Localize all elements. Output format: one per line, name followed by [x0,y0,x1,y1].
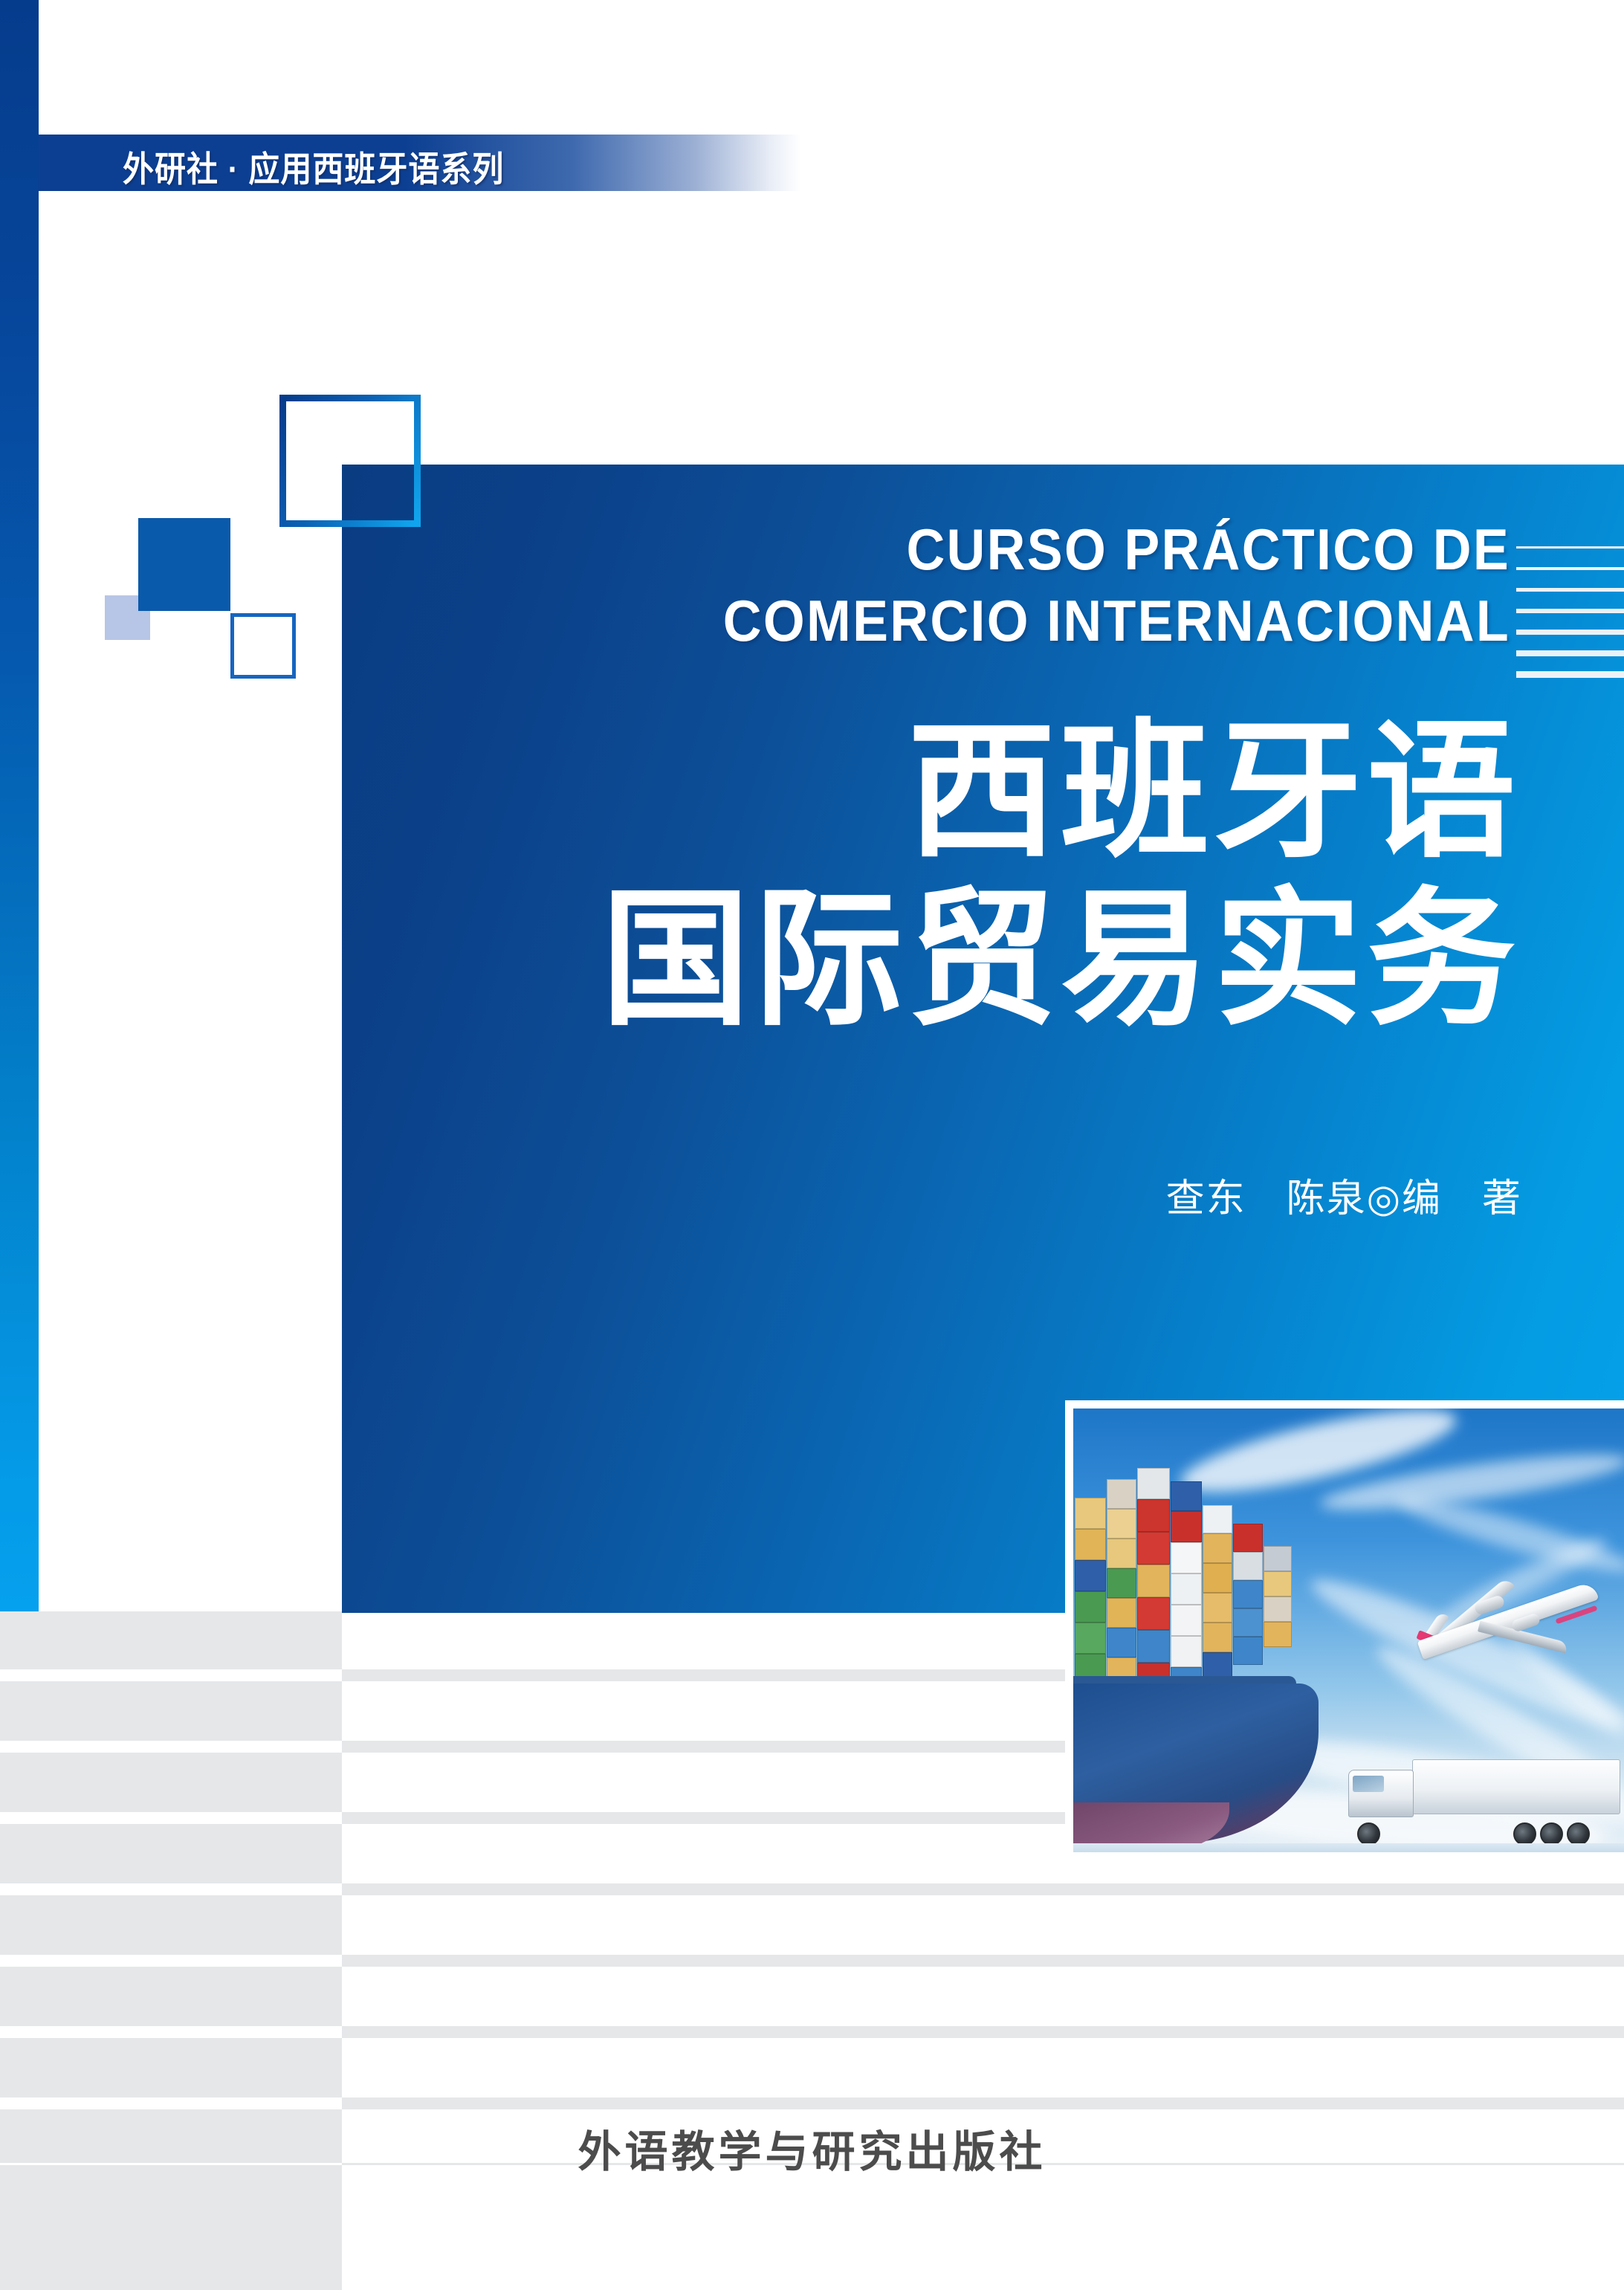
chinese-title-line-1: 西班牙语 [372,714,1520,871]
stripe-band [0,2038,1624,2097]
author-byline: 查东 陈泉◎编 著 [743,1167,1522,1223]
container-box [1137,1597,1170,1630]
delivery-truck [1341,1758,1620,1847]
stripe-gap [0,2097,1624,2109]
stripe-left-segment [0,1824,342,1883]
container-box [1107,1509,1136,1539]
stripe-left-segment [0,1741,342,1753]
container-box [1107,1479,1136,1509]
truck-wheel [1540,1822,1563,1846]
stripe-left-segment [0,1681,342,1741]
stripe-left-segment [0,1895,342,1955]
container-box [1137,1532,1170,1565]
stripe-band [0,1967,1624,2026]
container-box [1171,1511,1202,1542]
white-footer-block [342,2165,1624,2290]
container-box [1171,1481,1202,1511]
container-box [1233,1580,1263,1608]
container-box [1233,1552,1263,1580]
stripe-left-segment [0,1753,342,1812]
book-cover: 外研社 · 应用西班牙语系列 CURSO PRÁCTICO DE COMERCI… [0,0,1624,2290]
container-box [1233,1524,1263,1552]
container-box [1107,1568,1136,1598]
chinese-title-line-2: 国际贸易实务 [372,882,1520,1039]
container-box [1171,1573,1202,1605]
water-surface [1073,1843,1624,1852]
left-gradient-spine [0,0,39,1611]
container-box [1107,1628,1136,1657]
spanish-title-line-1: CURSO PRÁCTICO DE [545,520,1510,580]
stripe-right-segment [342,2038,1624,2097]
container-box [1264,1546,1292,1571]
container-box [1137,1499,1170,1532]
stripe-gap [0,2026,1624,2038]
stripe-right-segment [342,1967,1624,2026]
cover-photo-frame [1065,1400,1624,1852]
truck-trailer [1412,1759,1620,1814]
container-box [1203,1623,1232,1652]
stripe-right-segment [342,1883,1624,1895]
container-box [1137,1468,1170,1499]
stripe-left-segment [0,1883,342,1895]
container-stack [1137,1468,1170,1695]
container-box [1137,1630,1170,1663]
container-box [1264,1597,1292,1622]
rule-line [1516,650,1624,656]
rule-line [1516,588,1624,592]
gray-footer-block [0,2165,342,2290]
container-stack [1075,1498,1106,1685]
container-stack [1107,1479,1136,1687]
stripe-gap [0,1883,1624,1895]
small-outlined-square-decoration [230,613,296,679]
series-banner-label: 外研社 · 应用西班牙语系列 [123,141,504,192]
container-box [1075,1560,1106,1591]
stripe-left-segment [0,2038,342,2097]
container-box [1264,1571,1292,1597]
stripe-left-segment [0,1812,342,1824]
container-box [1171,1605,1202,1636]
stripe-right-segment [342,2026,1624,2038]
container-box [1203,1533,1232,1563]
rule-line [1516,609,1624,613]
stripe-left-segment [0,1955,342,1967]
stripe-left-segment [0,2097,342,2109]
logistics-photo [1073,1408,1624,1852]
truck-wheel [1513,1822,1536,1846]
rule-line [1516,671,1624,678]
solid-blue-square-decoration [138,518,230,611]
large-outlined-square-decoration [279,395,421,527]
container-stack [1264,1546,1292,1647]
container-box [1075,1591,1106,1623]
container-stack [1233,1524,1263,1665]
stripe-left-segment [0,1669,342,1681]
container-box [1233,1608,1263,1637]
cargo-airplane [1409,1554,1610,1666]
publisher-name: 外语教学与研究出版社 [0,2117,1624,2179]
container-box [1264,1622,1292,1647]
container-box [1203,1593,1232,1623]
container-box [1075,1623,1106,1654]
stripe-right-segment [342,1955,1624,1967]
container-stack [1203,1505,1232,1682]
container-box [1075,1529,1106,1560]
container-box [1203,1563,1232,1593]
chinese-title: 西班牙语 国际贸易实务 [372,714,1520,1039]
container-box [1233,1637,1263,1665]
truck-wheel [1357,1822,1380,1846]
rule-line [1516,567,1624,570]
stripe-gap [0,1955,1624,1967]
container-box [1203,1505,1232,1533]
stripe-left-segment [0,2026,342,2038]
container-box [1171,1542,1202,1573]
rule-line [1516,630,1624,635]
spanish-title: CURSO PRÁCTICO DE COMERCIO INTERNACIONAL [461,520,1510,650]
stripe-right-segment [342,2097,1624,2109]
stripe-left-segment [0,1611,342,1669]
stripe-right-segment [342,1895,1624,1955]
container-box [1075,1498,1106,1529]
container-box [1137,1565,1170,1597]
container-box [1171,1636,1202,1667]
stripe-band [0,1895,1624,1955]
truck-wheel [1567,1822,1590,1846]
container-box [1107,1598,1136,1628]
truck-windshield [1353,1776,1384,1792]
rule-line [1516,546,1624,549]
spanish-title-line-2: COMERCIO INTERNACIONAL [545,592,1510,651]
ruled-lines-ornament [1516,546,1624,678]
stripe-left-segment [0,1967,342,2026]
container-stack [1171,1481,1202,1698]
container-box [1107,1539,1136,1568]
